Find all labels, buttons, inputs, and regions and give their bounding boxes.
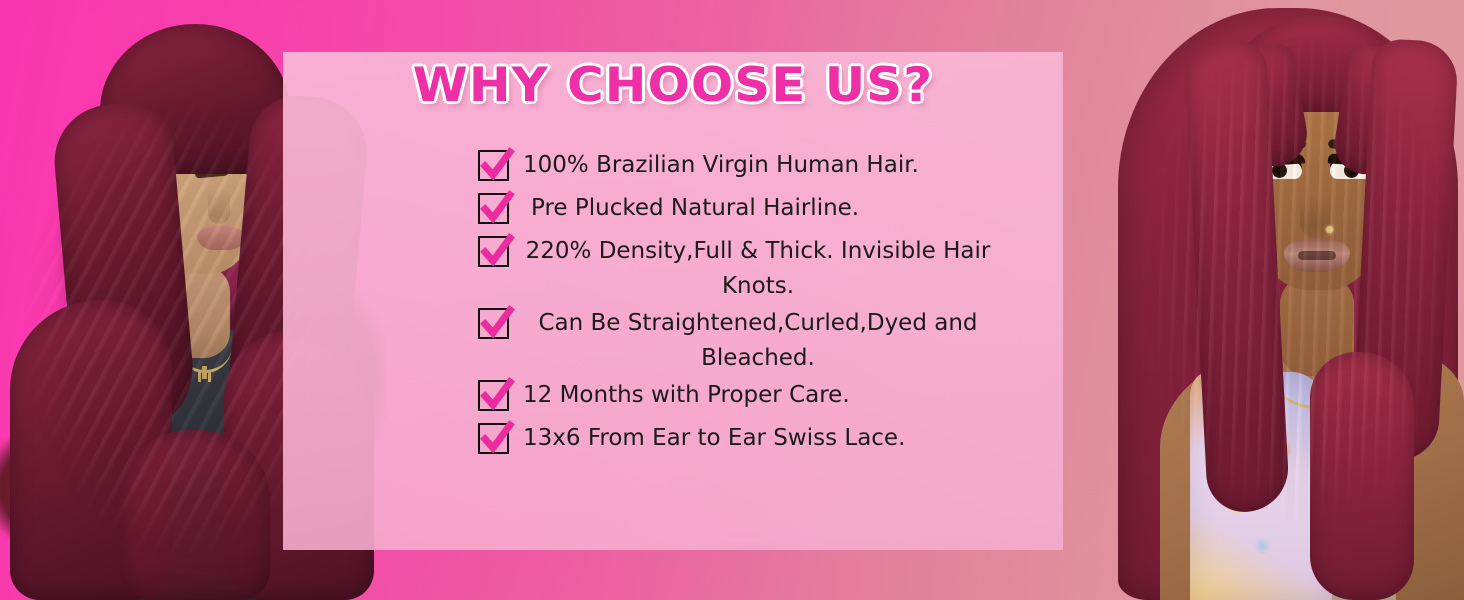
list-item: 220% Density,Full & Thick. Invisible Hai… <box>283 234 1063 304</box>
feature-label: Pre Plucked Natural Hairline. <box>531 191 859 226</box>
feature-label: 220% Density,Full & Thick. Invisible Hai… <box>523 234 993 304</box>
features-panel: WHY CHOOSE US? 100% Brazilian Virgin Hum… <box>283 52 1063 550</box>
page-title: WHY CHOOSE US? <box>260 58 1087 113</box>
model-photo-right <box>1104 0 1464 600</box>
features-list: 100% Brazilian Virgin Human Hair. Pre Pl… <box>283 148 1063 464</box>
feature-label: 100% Brazilian Virgin Human Hair. <box>523 148 919 183</box>
feature-label: 12 Months with Proper Care. <box>523 378 850 413</box>
checkbox-checked-icon <box>478 193 509 224</box>
feature-label: Can Be Straightened,Curled,Dyed and Blea… <box>523 306 993 376</box>
list-item: Can Be Straightened,Curled,Dyed and Blea… <box>283 306 1063 376</box>
checkbox-checked-icon <box>478 236 509 267</box>
checkbox-checked-icon <box>478 150 509 181</box>
list-item: Pre Plucked Natural Hairline. <box>283 191 1063 226</box>
list-item: 13x6 From Ear to Ear Swiss Lace. <box>283 421 1063 456</box>
feature-label: 13x6 From Ear to Ear Swiss Lace. <box>523 421 905 456</box>
list-item: 100% Brazilian Virgin Human Hair. <box>283 148 1063 183</box>
list-item: 12 Months with Proper Care. <box>283 378 1063 413</box>
right-model-hair-front <box>1104 0 1464 600</box>
why-choose-us-banner: WHY CHOOSE US? 100% Brazilian Virgin Hum… <box>0 0 1464 600</box>
checkbox-checked-icon <box>478 423 509 454</box>
checkbox-checked-icon <box>478 308 509 339</box>
checkbox-checked-icon <box>478 380 509 411</box>
